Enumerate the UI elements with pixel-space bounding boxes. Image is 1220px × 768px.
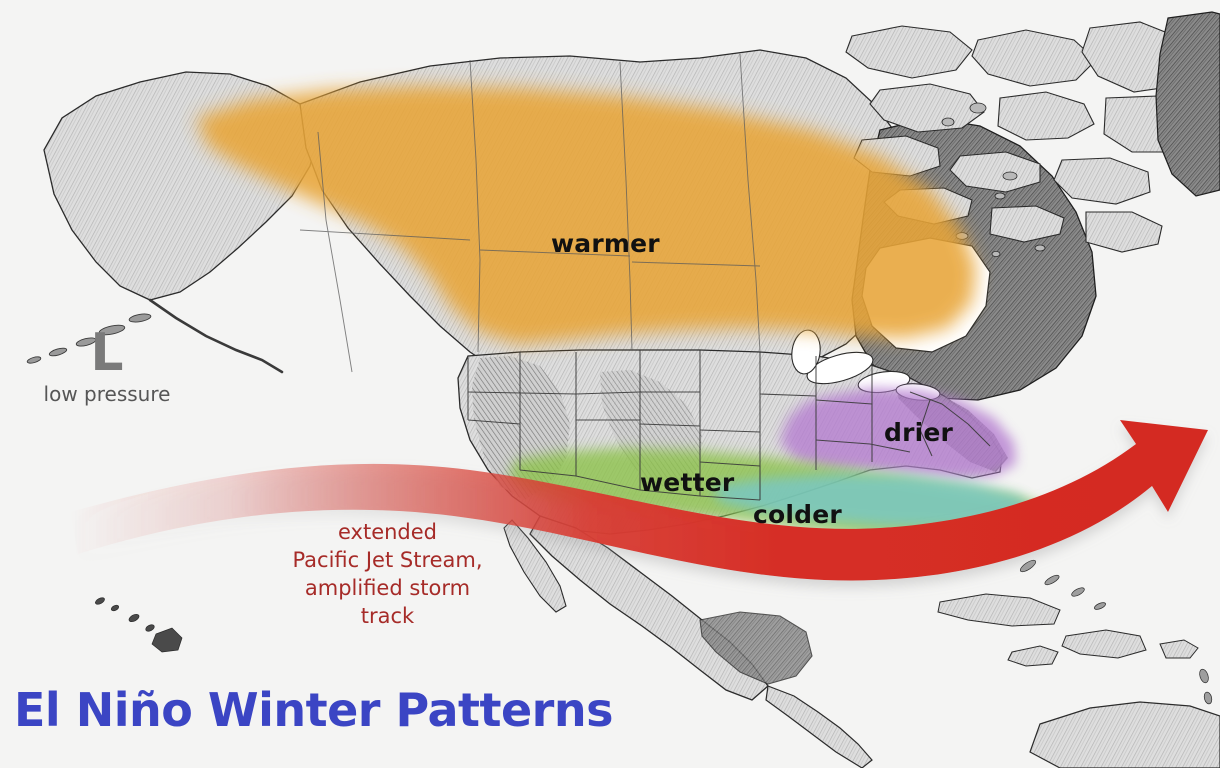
region-label-drier: drier (884, 418, 953, 447)
north-america-climate-map (0, 0, 1220, 768)
jet-annotation-line-4: track (265, 602, 510, 630)
jet-annotation-line-3: amplified storm (265, 574, 510, 602)
jet-annotation-line-2: Pacific Jet Stream, (265, 546, 510, 574)
jet-stream-annotation: extended Pacific Jet Stream, amplified s… (265, 518, 510, 630)
page-title: El Niño Winter Patterns (14, 684, 613, 736)
el-nino-winter-patterns-infographic: warmer drier wetter colder L low pressur… (0, 0, 1220, 768)
low-pressure-symbol: L (32, 326, 182, 380)
region-label-colder: colder (753, 500, 842, 529)
low-pressure-caption: low pressure (32, 382, 182, 406)
region-label-warmer: warmer (551, 229, 660, 258)
region-label-wetter: wetter (640, 468, 734, 497)
low-pressure-annotation: L low pressure (32, 326, 182, 406)
jet-annotation-line-1: extended (265, 518, 510, 546)
